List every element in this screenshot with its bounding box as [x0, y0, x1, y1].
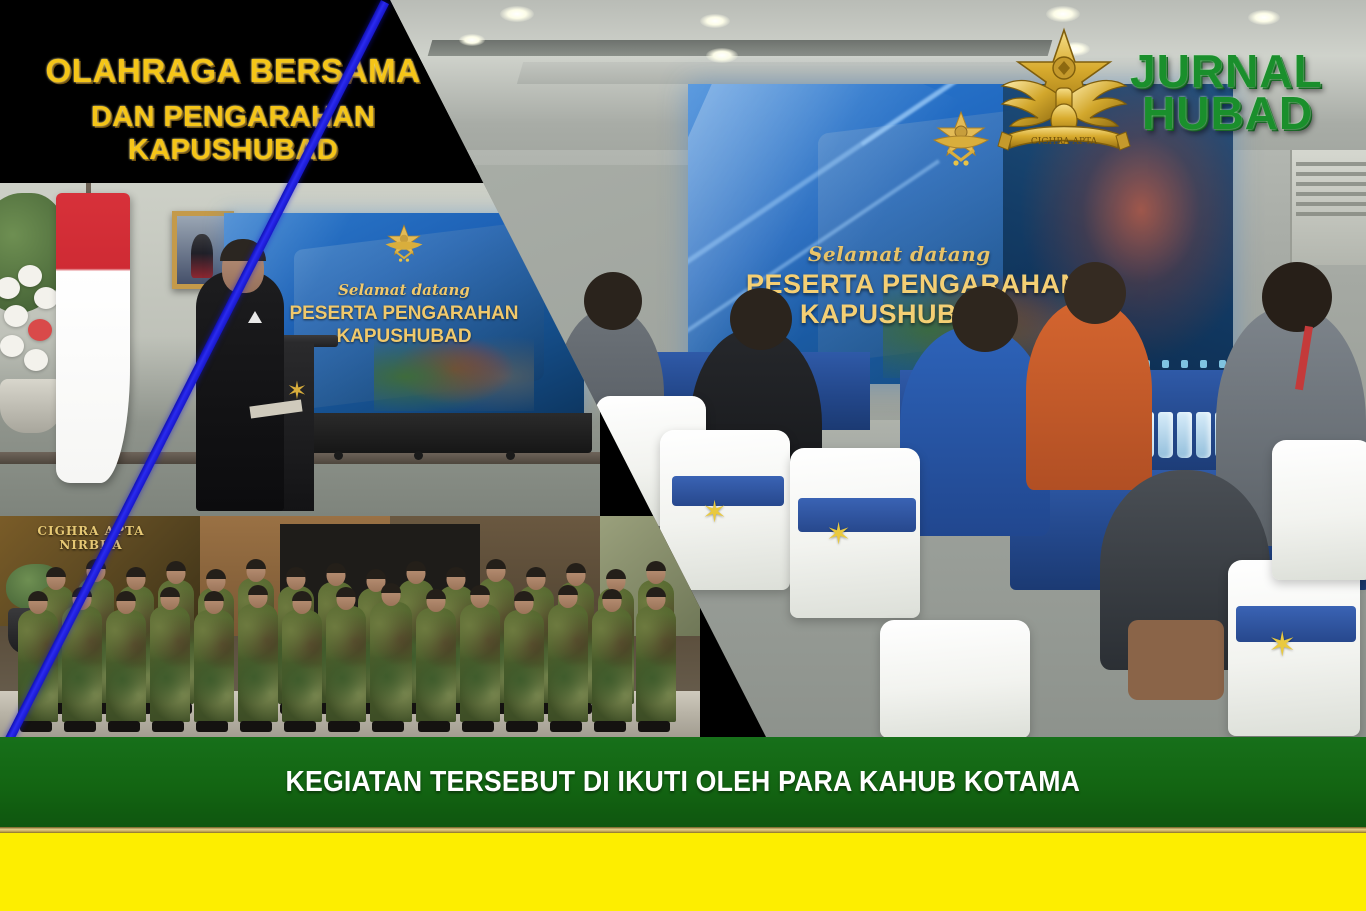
chair	[790, 448, 920, 618]
audience-head	[952, 286, 1018, 352]
caption-bar: KEGIATAN TERSEBUT DI IKUTI OLEH PARA KAH…	[0, 737, 1366, 827]
officer	[18, 610, 58, 722]
backdrop-text: CIGHRA APTA NIRBHA	[26, 524, 156, 552]
winged-star-emblem-icon: CIGHRA APTA	[994, 24, 1134, 164]
brand-line-2: HUBAD	[1130, 92, 1310, 134]
ceiling-downlight	[459, 34, 485, 46]
ceiling-downlight	[500, 6, 534, 22]
officer	[62, 606, 102, 722]
poster-canvas: Selamat datang PESERTA PENGARAHAN KAPUSH…	[0, 0, 1366, 911]
chair-star-emblem: ✶	[1268, 628, 1297, 662]
brand-wordmark: JURNAL HUBAD	[1130, 50, 1310, 135]
brand-line-1: JURNAL	[1130, 50, 1310, 92]
audience-head	[584, 272, 642, 330]
indonesian-flag	[56, 193, 130, 483]
screen-welcome-text: Selamat datang	[688, 242, 1233, 266]
chair-star-emblem: ✶	[826, 520, 851, 550]
photo-group-officers: CIGHRA APTA NIRBHA	[0, 516, 700, 737]
vase	[0, 379, 62, 433]
chair-sash	[672, 476, 784, 506]
brand-logo: CIGHRA APTA JURNAL HUBAD	[994, 20, 1304, 165]
officer	[106, 610, 146, 722]
ceiling-downlight	[700, 14, 730, 28]
audience-leg	[1128, 620, 1224, 700]
audience-head	[1262, 262, 1332, 332]
officer	[194, 610, 234, 722]
officer	[370, 602, 412, 722]
audience-head	[730, 288, 792, 350]
officer	[460, 604, 500, 722]
chair-sash	[798, 498, 916, 532]
officer	[416, 608, 456, 722]
officer	[592, 608, 632, 722]
flower-arrangement	[0, 261, 64, 381]
air-conditioner	[1290, 150, 1366, 265]
officer	[636, 606, 676, 722]
audience-head	[1064, 262, 1126, 324]
headline-line-1: OLAHRAGA BERSAMA	[0, 52, 466, 90]
chair	[880, 620, 1030, 737]
speaker-person	[196, 271, 284, 511]
ceiling-downlight	[706, 48, 738, 63]
ceiling-slot	[428, 40, 1053, 56]
chair	[1272, 440, 1366, 580]
hubad-emblem-icon	[380, 223, 428, 267]
audience-person	[1026, 300, 1152, 490]
bottom-yellow-bar	[0, 833, 1366, 911]
officer	[504, 610, 544, 722]
officer	[150, 606, 190, 722]
officer	[326, 606, 366, 722]
chair-star-emblem: ✶	[702, 498, 727, 528]
caption-text: KEGIATAN TERSEBUT DI IKUTI OLEH PARA KAH…	[286, 766, 1081, 799]
officer	[238, 604, 278, 722]
speaker-logo	[248, 311, 262, 323]
hubad-emblem-icon	[926, 110, 996, 172]
officer	[548, 604, 588, 722]
officer	[282, 610, 322, 722]
headline-line-2: DAN PENGARAHAN KAPUSHUBAD	[0, 101, 466, 167]
svg-text:CIGHRA APTA: CIGHRA APTA	[1031, 137, 1098, 147]
